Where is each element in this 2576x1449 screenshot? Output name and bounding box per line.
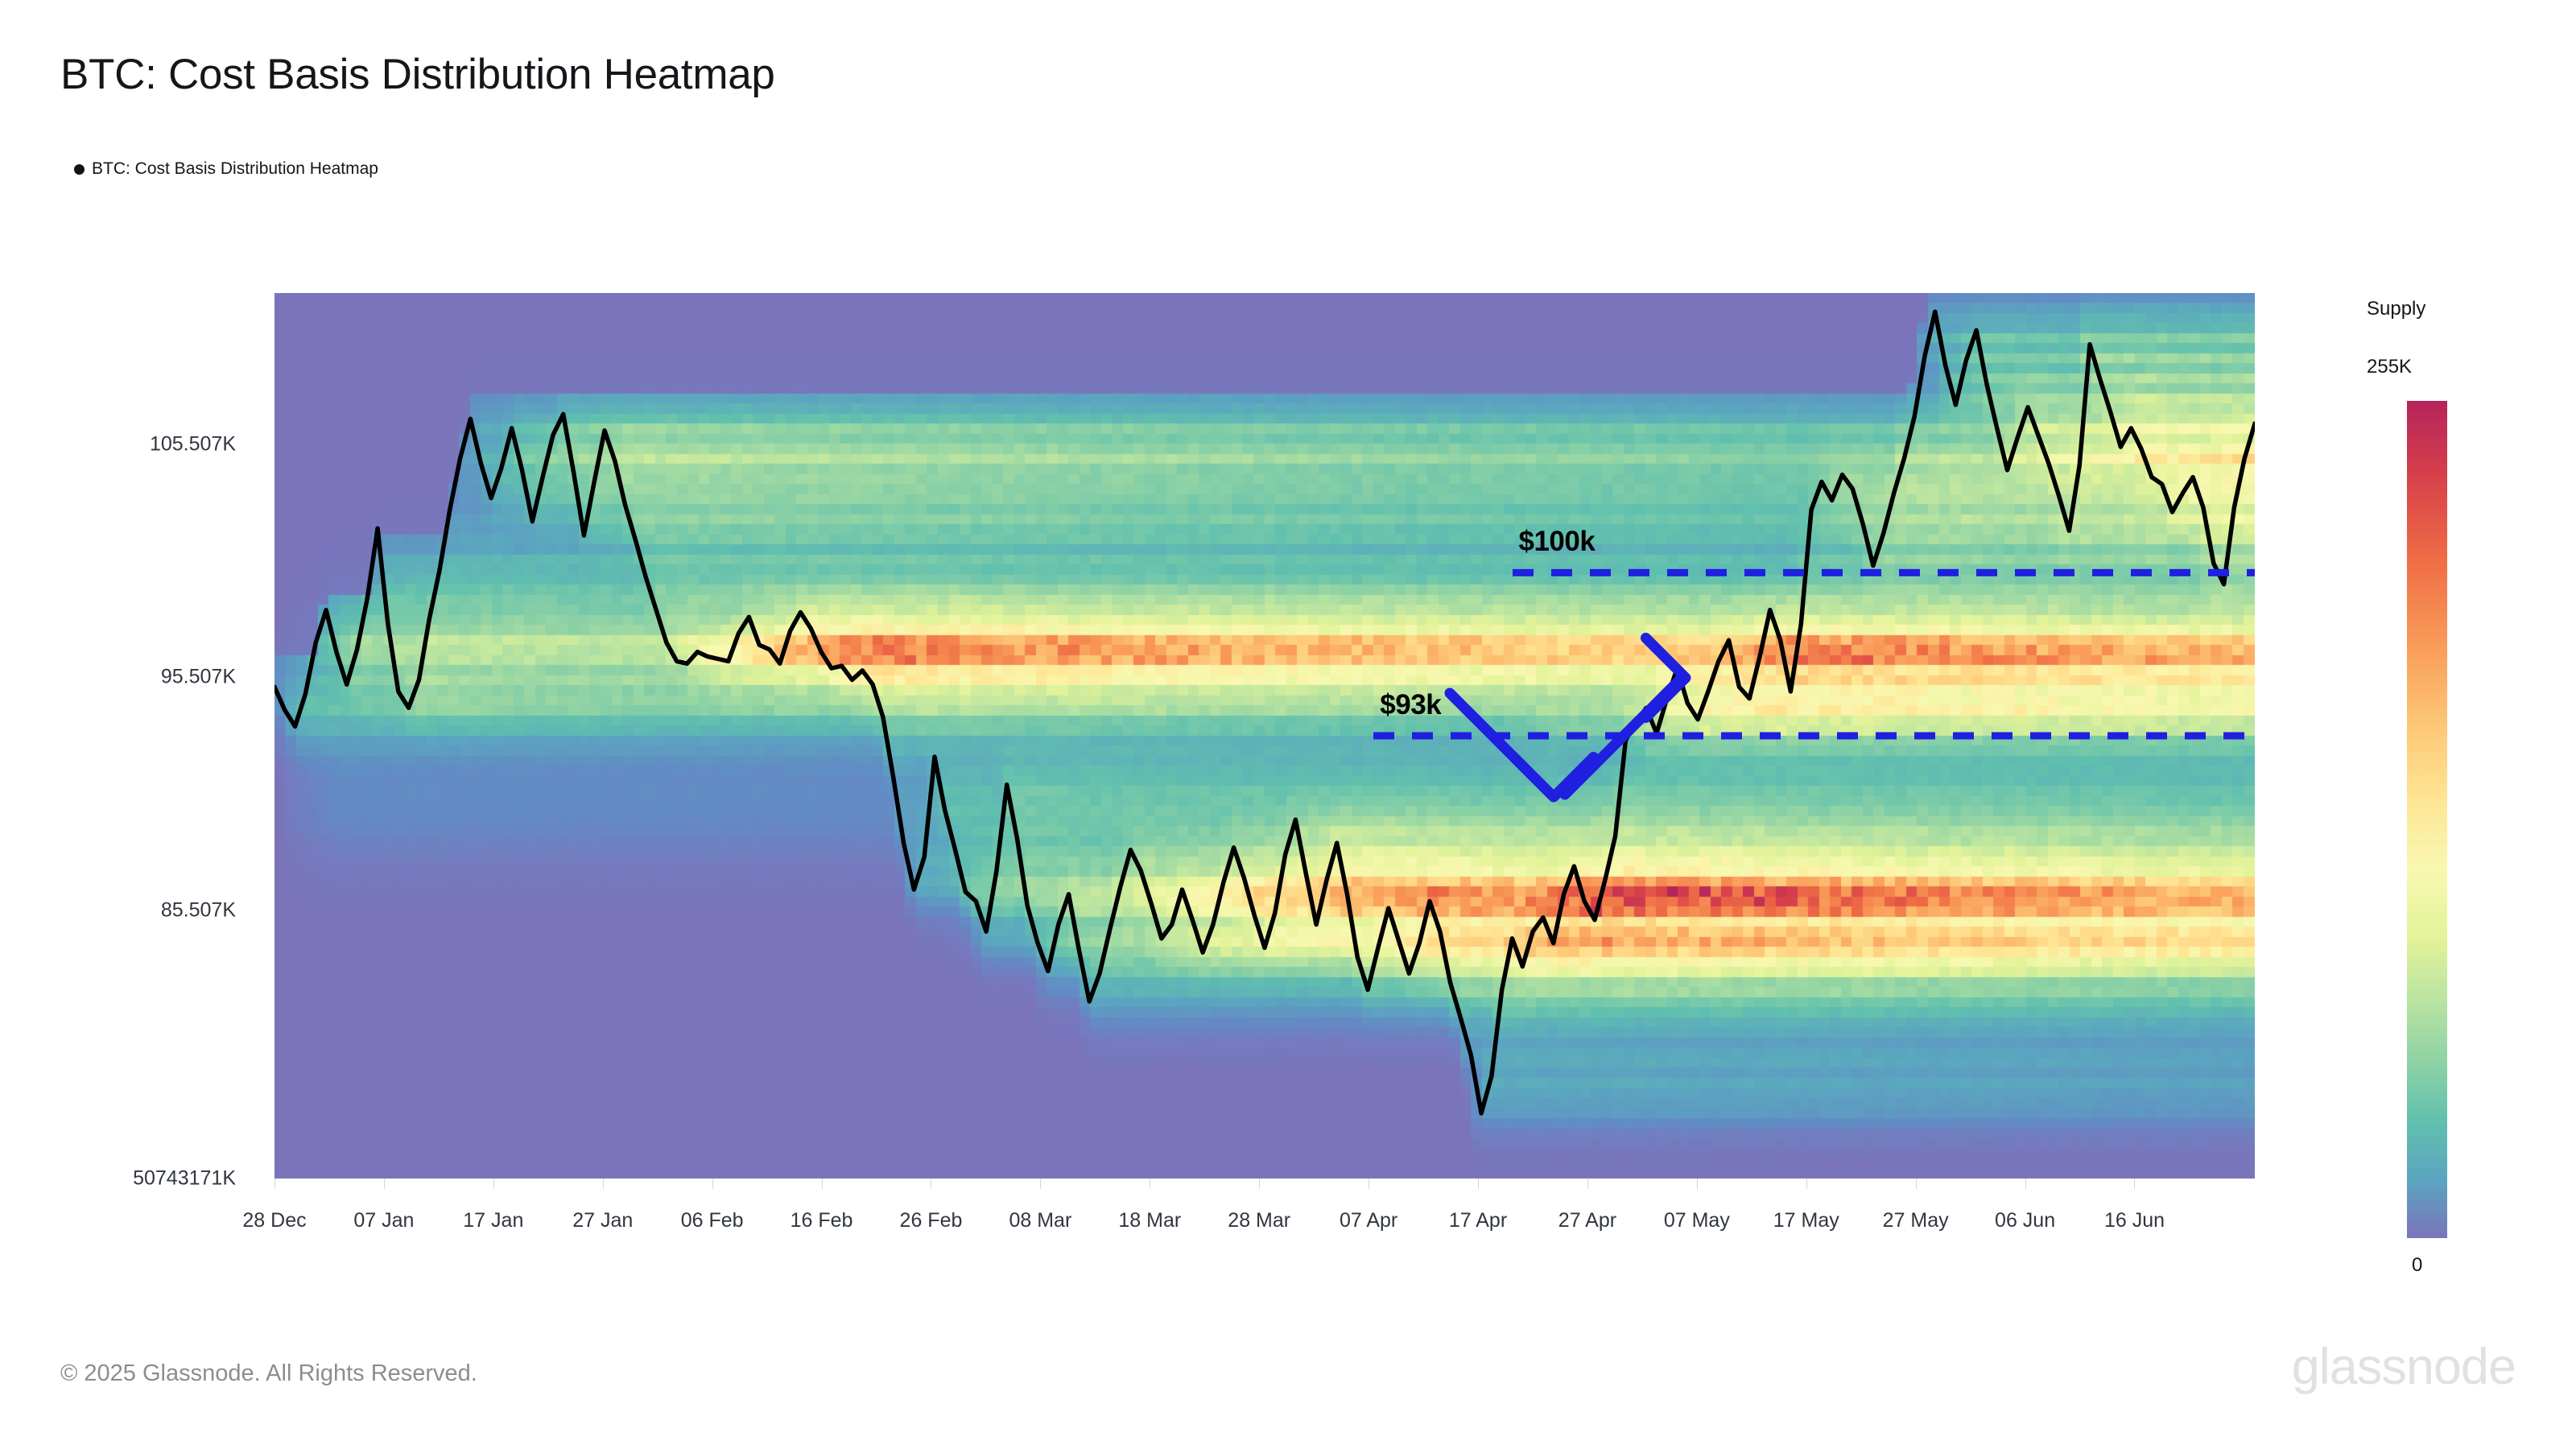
y-axis: 105.507K95.507K85.507K50743171K bbox=[0, 293, 258, 1179]
x-axis-tick-mark bbox=[493, 1179, 494, 1189]
footer-copyright: © 2025 Glassnode. All Rights Reserved. bbox=[60, 1360, 477, 1387]
x-axis-tick-mark bbox=[1587, 1179, 1588, 1189]
x-axis-tick-mark bbox=[931, 1179, 931, 1189]
x-axis-tick-label: 26 Feb bbox=[900, 1209, 963, 1232]
chart-legend[interactable]: BTC: Cost Basis Distribution Heatmap bbox=[74, 159, 378, 179]
x-axis-tick-label: 07 May bbox=[1664, 1209, 1730, 1232]
colorbar: Supply 255K 0 bbox=[2367, 298, 2576, 1199]
x-axis-tick-label: 27 May bbox=[1883, 1209, 1949, 1232]
x-axis-tick-label: 27 Apr bbox=[1558, 1209, 1616, 1232]
x-axis-tick-label: 28 Dec bbox=[242, 1209, 306, 1232]
x-axis-tick-label: 17 May bbox=[1773, 1209, 1839, 1232]
x-axis-tick-mark bbox=[1806, 1179, 1807, 1189]
x-axis-tick-mark bbox=[822, 1179, 823, 1189]
x-axis-tick-mark bbox=[1040, 1179, 1041, 1189]
x-axis-tick-mark bbox=[384, 1179, 385, 1189]
annotation-label-100k: $100k bbox=[1519, 526, 1596, 558]
x-axis-tick-mark bbox=[1150, 1179, 1150, 1189]
x-axis-tick-mark bbox=[2134, 1179, 2135, 1189]
x-axis-tick-mark bbox=[1259, 1179, 1260, 1189]
y-axis-tick-label: 105.507K bbox=[150, 432, 236, 456]
x-axis-tick-label: 28 Mar bbox=[1228, 1209, 1290, 1232]
x-axis-tick-label: 17 Jan bbox=[463, 1209, 523, 1232]
x-axis-tick-mark bbox=[1697, 1179, 1698, 1189]
x-axis-tick-label: 16 Feb bbox=[791, 1209, 853, 1232]
x-axis-tick-mark bbox=[603, 1179, 604, 1189]
colorbar-max-label: 255K bbox=[2367, 356, 2412, 378]
legend-label: BTC: Cost Basis Distribution Heatmap bbox=[92, 159, 378, 179]
x-axis-tick-label: 07 Apr bbox=[1340, 1209, 1397, 1232]
x-axis-tick-label: 06 Jun bbox=[1995, 1209, 2055, 1232]
x-axis-tick-mark bbox=[1478, 1179, 1479, 1189]
legend-marker-icon bbox=[74, 164, 85, 175]
x-axis-tick-label: 06 Feb bbox=[681, 1209, 744, 1232]
annotation-label-93k: $93k bbox=[1380, 689, 1441, 721]
y-axis-tick-label: 85.507K bbox=[161, 898, 236, 922]
y-axis-tick-label: 50743171K bbox=[133, 1167, 236, 1191]
colorbar-title: Supply bbox=[2367, 298, 2425, 320]
x-axis-tick-mark bbox=[1916, 1179, 1917, 1189]
colorbar-min-label: 0 bbox=[2412, 1254, 2422, 1277]
colorbar-gradient bbox=[2407, 401, 2447, 1238]
x-axis-tick-label: 07 Jan bbox=[353, 1209, 414, 1232]
x-axis-tick-label: 27 Jan bbox=[572, 1209, 633, 1232]
plot-area[interactable] bbox=[275, 293, 2255, 1179]
x-axis-tick-label: 18 Mar bbox=[1118, 1209, 1181, 1232]
glassnode-watermark: glassnode bbox=[2292, 1338, 2516, 1396]
y-axis-tick-label: 95.507K bbox=[161, 666, 236, 689]
annotation-overlay bbox=[275, 293, 2255, 1179]
x-axis-tick-label: 17 Apr bbox=[1449, 1209, 1507, 1232]
page-title: BTC: Cost Basis Distribution Heatmap bbox=[60, 50, 775, 99]
x-axis-tick-mark bbox=[275, 1179, 275, 1189]
x-axis-tick-label: 16 Jun bbox=[2104, 1209, 2165, 1232]
x-axis-tick-label: 08 Mar bbox=[1009, 1209, 1071, 1232]
up-arrow-icon bbox=[1565, 638, 1686, 795]
x-axis-tick-mark bbox=[2025, 1179, 2026, 1189]
x-axis-tick-mark bbox=[1368, 1179, 1369, 1189]
x-axis-tick-mark bbox=[712, 1179, 713, 1189]
x-axis: 28 Dec07 Jan17 Jan27 Jan06 Feb16 Feb26 F… bbox=[275, 1179, 2255, 1267]
